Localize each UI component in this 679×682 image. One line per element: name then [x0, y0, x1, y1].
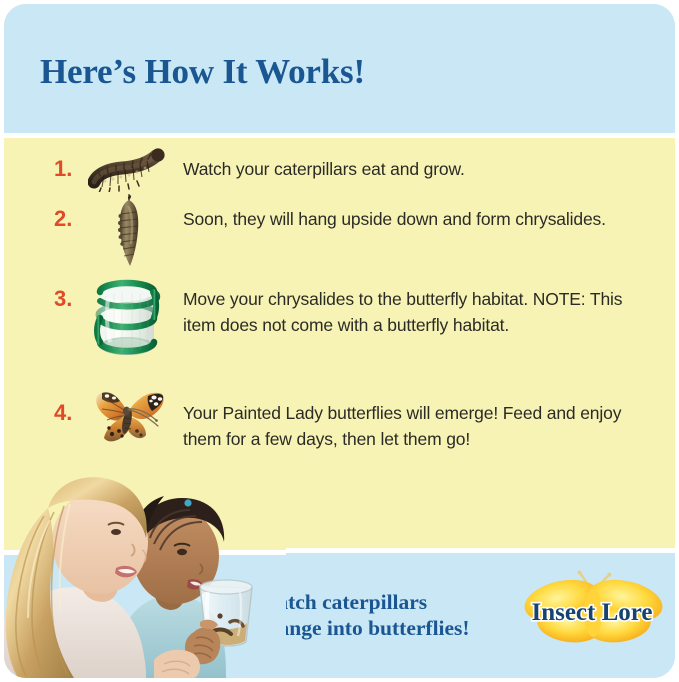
step-text-3: Move your chrysalides to the butterfly h… — [183, 286, 643, 338]
promo-card: Here’s How It Works! 1. — [4, 4, 675, 678]
tagline: Watch caterpillars change into butterfli… — [257, 589, 470, 641]
step-text-4: Your Painted Lady butterflies will emerg… — [183, 400, 643, 452]
header-band: Here’s How It Works! — [4, 4, 675, 133]
step-number-1: 1. — [54, 156, 84, 182]
logo-wordmark: Insect Lore — [531, 599, 652, 626]
step-number-3: 3. — [54, 286, 84, 312]
chrysalis-icon — [108, 194, 152, 270]
insect-lore-logo: Insect Lore — [517, 563, 667, 651]
step-text-1: Watch your caterpillars eat and grow. — [183, 156, 643, 182]
tagline-line-1: Watch caterpillars — [257, 589, 470, 615]
step-number-2: 2. — [54, 206, 84, 232]
butterfly-habitat-icon — [90, 276, 164, 362]
woman-and-girl-with-caterpillar-cup-photo — [4, 446, 286, 678]
page-title: Here’s How It Works! — [40, 52, 365, 92]
painted-lady-butterfly-icon — [88, 386, 170, 448]
step-number-4: 4. — [54, 400, 84, 426]
tagline-line-2: change into butterflies! — [257, 615, 470, 641]
caterpillar-icon — [88, 146, 172, 192]
step-text-2: Soon, they will hang upside down and for… — [183, 206, 643, 232]
